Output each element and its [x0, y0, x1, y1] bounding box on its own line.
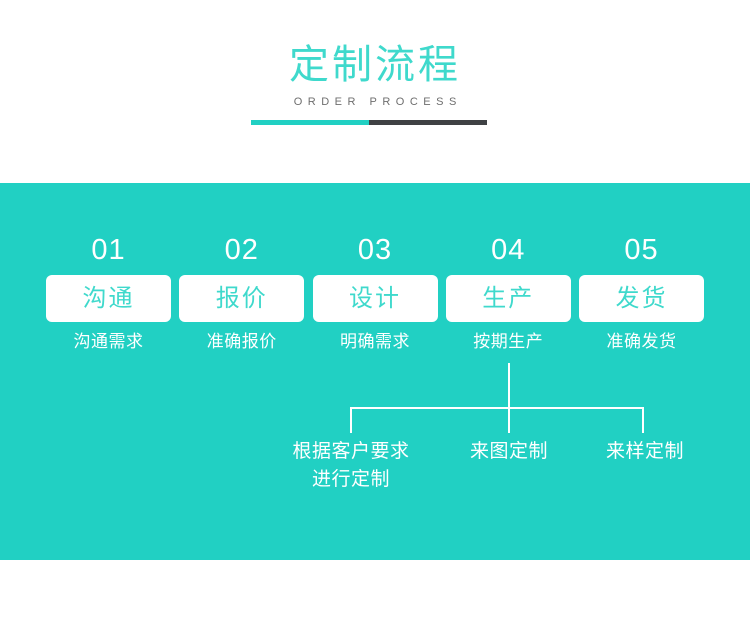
- step-badge-label: 设计: [349, 285, 401, 313]
- step-badge[interactable]: 沟通: [46, 275, 171, 322]
- process-step-04: 04 生产 按期生产: [446, 232, 571, 353]
- title-divider: [251, 120, 487, 125]
- connector-drop-line-right: [642, 407, 644, 433]
- bracket-connector: [0, 363, 750, 433]
- step-caption: 准确报价: [207, 330, 277, 353]
- step-caption: 明确需求: [340, 330, 410, 353]
- customization-option-list: 根据客户要求 进行定制 来图定制 来样定制: [0, 438, 750, 528]
- step-caption: 准确发货: [607, 330, 677, 353]
- process-step-02: 02 报价 准确报价: [179, 232, 304, 353]
- step-caption: 按期生产: [473, 330, 543, 353]
- customization-option-3: 来样定制: [576, 438, 714, 466]
- step-badge[interactable]: 设计: [313, 275, 438, 322]
- connector-stem-line: [508, 363, 510, 408]
- process-step-list: 01 沟通 沟通需求 02 报价 准确报价 03 设计 明确需求: [46, 232, 704, 353]
- step-number: 02: [225, 232, 259, 268]
- process-step-03: 03 设计 明确需求: [313, 232, 438, 353]
- step-badge[interactable]: 生产: [446, 275, 571, 322]
- customization-option-2: 来图定制: [440, 438, 578, 466]
- step-badge-label: 生产: [482, 285, 534, 313]
- process-step-05: 05 发货 准确发货: [579, 232, 704, 353]
- connector-drop-line-left: [350, 407, 352, 433]
- page-subtitle: ORDER PROCESS: [0, 95, 750, 109]
- header-section: 定制流程 ORDER PROCESS: [0, 0, 750, 183]
- step-number: 05: [624, 232, 658, 268]
- customization-option-1: 根据客户要求 进行定制: [265, 438, 437, 494]
- step-number: 03: [358, 232, 392, 268]
- step-badge-label: 报价: [216, 285, 268, 313]
- connector-horizontal-line: [350, 407, 644, 409]
- process-banner: 01 沟通 沟通需求 02 报价 准确报价 03 设计 明确需求: [0, 183, 750, 560]
- customization-option-line1: 根据客户要求: [265, 438, 437, 466]
- footer-whitespace: [0, 560, 750, 632]
- title-divider-teal-segment: [251, 120, 369, 125]
- customization-option-line2: 进行定制: [265, 466, 437, 494]
- step-badge-label: 沟通: [83, 285, 135, 313]
- step-badge[interactable]: 报价: [179, 275, 304, 322]
- connector-drop-line-center: [508, 407, 510, 433]
- process-step-01: 01 沟通 沟通需求: [46, 232, 171, 353]
- step-badge[interactable]: 发货: [579, 275, 704, 322]
- step-number: 04: [491, 232, 525, 268]
- step-badge-label: 发货: [616, 285, 668, 313]
- customization-option-line1: 来图定制: [440, 438, 578, 466]
- step-caption: 沟通需求: [74, 330, 144, 353]
- customization-option-line1: 来样定制: [576, 438, 714, 466]
- page-title: 定制流程: [0, 41, 750, 89]
- step-number: 01: [91, 232, 125, 268]
- title-divider-dark-segment: [369, 120, 487, 125]
- order-process-infographic: 定制流程 ORDER PROCESS 01 沟通 沟通需求 02 报价 准确报价: [0, 0, 750, 632]
